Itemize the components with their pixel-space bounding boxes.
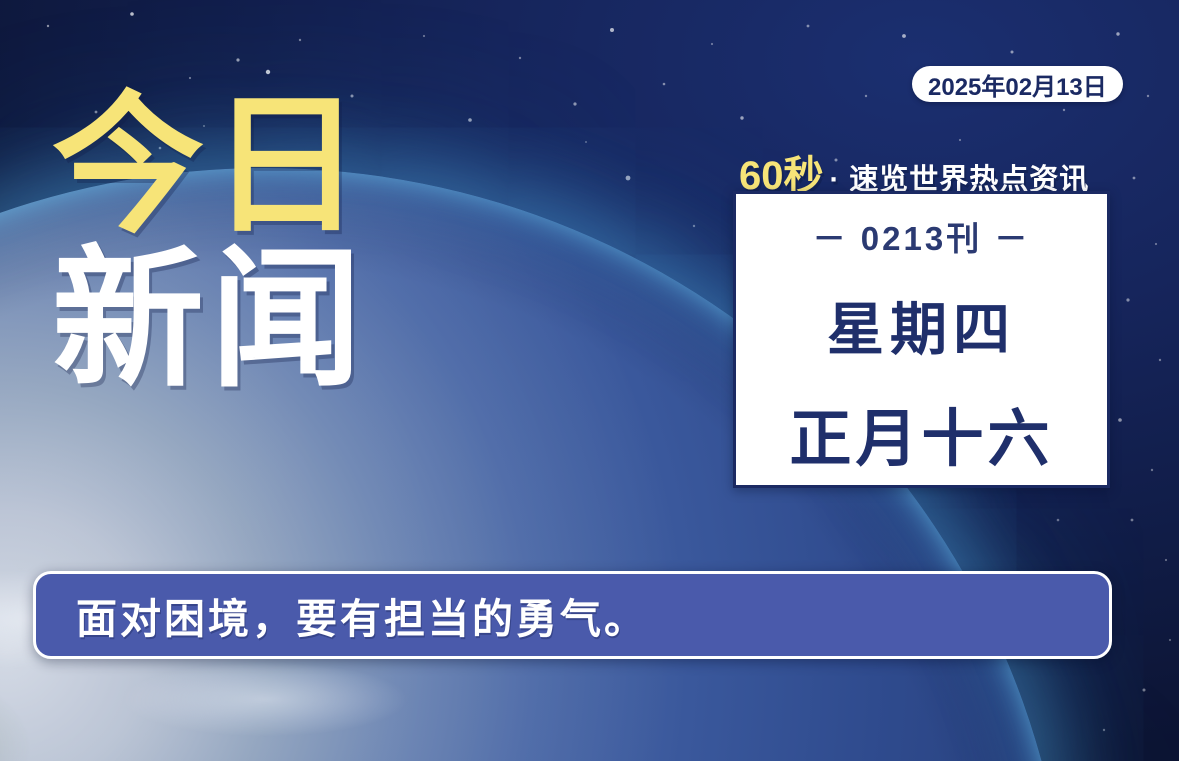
lunar-date-label: 正月十六: [789, 388, 1053, 478]
news-poster: 今日 新闻 2025年02月13日 60秒 · 速览世界热点资讯 － 0213刊…: [0, 0, 1179, 761]
issue-number: － 0213刊 －: [813, 212, 1031, 260]
title-line-news: 新闻: [52, 248, 368, 394]
quote-banner: 面对困境，要有担当的勇气。: [33, 571, 1112, 659]
weekday-label: 星期四: [827, 284, 1016, 366]
issue-info-card: － 0213刊 － 星期四 正月十六: [733, 191, 1110, 488]
poster-title: 今日 新闻: [52, 94, 368, 394]
title-line-today: 今日: [52, 94, 368, 240]
quote-text: 面对困境，要有担当的勇气。: [76, 585, 648, 645]
date-badge: 2025年02月13日: [912, 66, 1123, 102]
